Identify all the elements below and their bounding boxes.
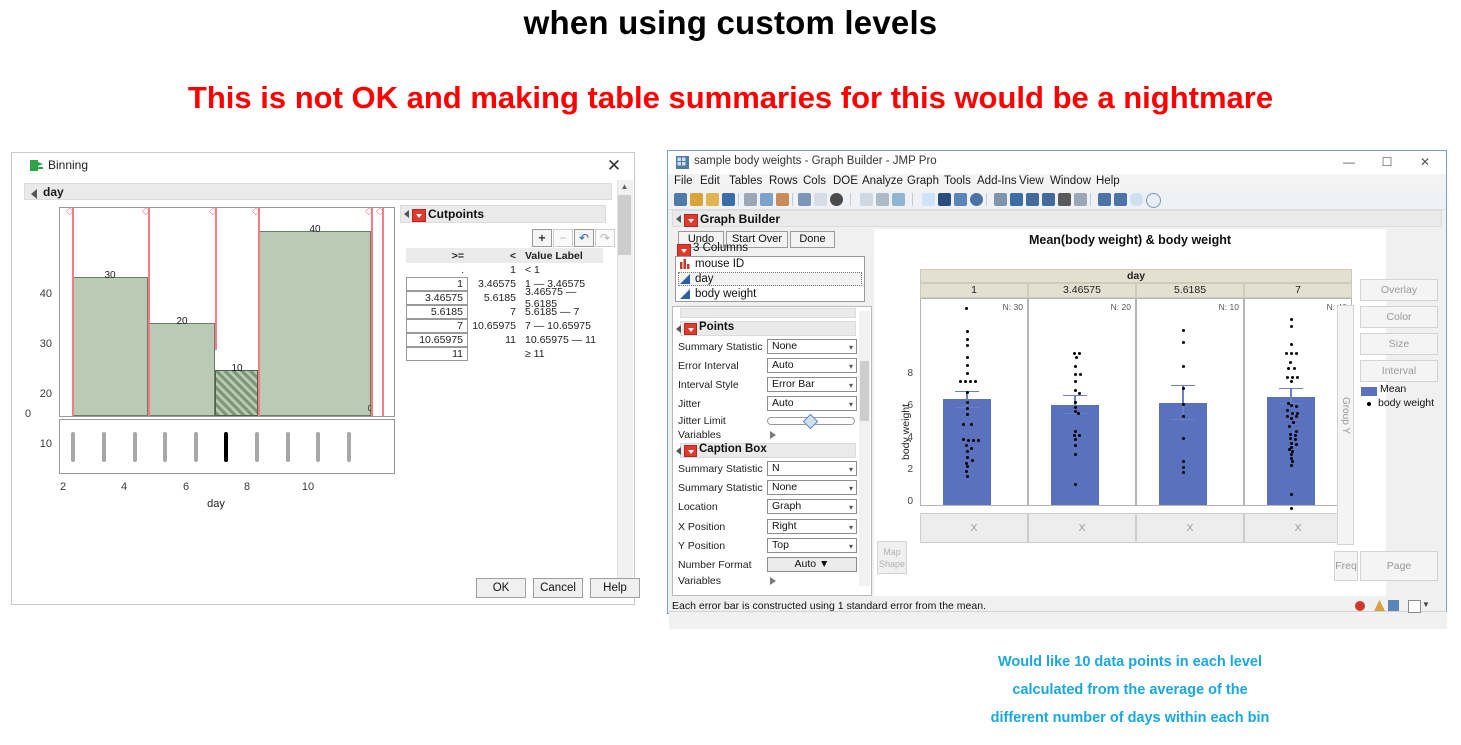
interval-style-label: Interval Style [678,379,739,391]
jitter-label: Jitter [678,398,701,410]
data-point [1074,483,1077,486]
error-interval-label: Error Interval [678,360,739,372]
data-point [966,475,969,478]
close-icon[interactable]: ✕ [604,156,624,176]
save-icon[interactable] [722,193,735,206]
facet-variable-header: day [920,269,1352,283]
x-tick-4: 4 [114,481,134,493]
caption-summary-statistic-2-label: Summary Statistic [678,482,763,494]
polygon-icon[interactable] [1130,193,1143,206]
disclosure-triangle-icon[interactable] [676,447,681,455]
chevron-down-icon: ▾ [849,521,853,534]
arrow-tool-icon[interactable] [922,193,935,206]
crosshairs-icon[interactable] [1058,193,1071,206]
columns-count-label: 3 Columns [693,242,748,254]
error-bar-cap [1063,395,1087,397]
disclosure-triangle-icon[interactable] [404,210,409,218]
freq-drop-zone[interactable]: Freq [1334,551,1358,581]
caption-summary-statistic-1-label: Summary Statistic [678,463,763,475]
caption-summary-statistic-1-select[interactable]: N▾ [767,461,857,476]
data-point [1074,389,1077,392]
data-point [1288,448,1291,451]
cutpoint-line[interactable] [148,208,150,416]
binning-window-icon [30,159,43,172]
x-tick-10: 10 [298,481,318,493]
menu-analyze[interactable]: Analyze [862,175,903,187]
select-value: Top [772,539,789,551]
data-point [1074,430,1077,433]
data-point [1079,373,1082,376]
lock-icon[interactable] [814,193,827,206]
points-summary-statistic-label: Summary Statistic [678,341,763,353]
binning-titlebar [12,153,634,179]
add-cutpoint-button[interactable]: + [532,229,552,247]
cell-lt: 5.6185 [468,292,520,304]
data-point [966,465,969,468]
n-label: N: 20 [1111,302,1131,312]
chevron-down-icon: ▾ [849,540,853,553]
column-header-ge: >= [406,250,468,262]
map-shape-label-line1: Map [883,547,901,557]
redo-button[interactable]: ↷ [595,229,615,247]
data-point [977,439,980,442]
chevron-down-icon: ▾ [849,482,853,495]
bar-value-label: 0 [363,404,377,413]
data-point [1290,507,1293,510]
column-item-mouse-id[interactable]: mouse ID [695,258,744,272]
data-point [966,456,969,459]
data-point [1074,401,1077,404]
new-data-table-icon[interactable] [674,193,687,206]
maximize-button[interactable]: ☐ [1368,151,1406,174]
cell-ge[interactable]: 5.6185 [406,305,468,319]
binning-histogram-plot[interactable]: 40 30 20 10 30 20 10 40 0 ◇ ◇ ◇ ◇ ◇ ◇ [59,207,395,417]
number-format-button[interactable]: Auto ▼ [767,557,857,572]
rug-tick-selected [224,432,228,462]
cell-ge[interactable]: 3.46575 [406,291,468,305]
caption-summary-statistic-2-select[interactable]: None▾ [767,480,857,495]
status-checkbox-icon[interactable] [1408,600,1421,613]
jmp-app-icon [676,156,689,169]
menu-cols[interactable]: Cols [803,175,826,187]
cell-label: 10.65975 — 11 [520,334,603,346]
data-point [1286,415,1289,418]
data-point [1293,367,1296,370]
menu-help[interactable]: Help [1096,175,1120,187]
legend-body-weight-label: body weight [1378,397,1434,409]
data-point [1290,464,1293,467]
data-point [1182,437,1185,440]
cutpoint-line[interactable] [215,208,217,350]
data-point [1182,403,1185,406]
chevron-down-icon: ▾ [849,379,853,392]
data-point [1290,453,1293,456]
data-point [1074,373,1077,376]
histogram-x-axis-title: day [48,498,384,510]
data-point [1290,325,1293,328]
data-point [1290,343,1293,346]
grabber-tool-icon[interactable] [994,193,1007,206]
undo-button[interactable]: ↶ [574,229,594,247]
data-point [1182,329,1185,332]
select-value: None [772,340,797,352]
data-point [1291,376,1294,379]
cell-lt: 1 [468,264,520,276]
column-item-body-weight[interactable]: body weight [695,288,756,302]
rug-tick [133,432,137,462]
data-point [1294,434,1297,437]
facet-label-5.6185: 5.6185 [1136,283,1244,298]
data-point [966,344,969,347]
cell-ge[interactable]: 10.65975 [406,333,468,347]
cutpoints-title: Cutpoints [428,207,484,221]
n-label: N: 10 [1219,302,1239,312]
x-tick-8: 8 [237,481,257,493]
rug-tick [347,432,351,462]
data-point [966,330,969,333]
rug-tick [194,432,198,462]
data-point [966,407,969,410]
annotate-icon[interactable] [1074,193,1087,206]
lines-icon[interactable] [1114,193,1127,206]
select-value: Graph [772,500,801,512]
cutpoint-handle[interactable]: ◇ [142,207,150,217]
data-point [1077,412,1080,415]
select-value: Auto [772,397,794,409]
data-point [966,413,969,416]
cutpoints-table[interactable]: >= < Value Label . 1 < 1 1 3.46575 1 — 3… [406,248,603,361]
help-button[interactable]: Help [590,578,640,598]
menu-view[interactable]: View [1019,175,1044,187]
data-point [970,447,973,450]
new-report-icon[interactable] [860,193,873,206]
location-select[interactable]: Graph▾ [767,499,857,514]
graph-y-tick-2: 2 [901,464,913,475]
table-row[interactable]: . 1 < 1 [406,263,603,277]
jitter-select[interactable]: Auto▾ [767,396,857,411]
x-position-select[interactable]: Right▾ [767,519,857,534]
data-point [1074,438,1077,441]
facet-label-7: 7 [1244,283,1352,298]
data-point [959,380,962,383]
page-drop-zone[interactable]: Page [1360,551,1438,581]
data-point [967,439,970,442]
map-shape-label-line2: Shape [879,559,905,569]
zoom-tool-icon[interactable] [1042,193,1055,206]
graph-title: Mean(body weight) & body weight [874,233,1386,247]
facet-panel-2[interactable]: N: 20 [1028,298,1136,506]
open-file-icon[interactable] [706,193,719,206]
data-point [1295,415,1298,418]
data-point [965,307,968,310]
cell-ge[interactable]: 7 [406,319,468,333]
column-item-day[interactable]: day [695,273,714,287]
nominal-column-icon [680,259,691,269]
caption-box-section-label: Caption Box [699,443,767,455]
columns-icon[interactable] [876,193,889,206]
map-shape-drop-zone[interactable]: Map Shape [877,541,907,574]
data-point [1182,471,1185,474]
data-point [971,459,974,462]
y-tick-30: 30 [26,338,52,350]
data-point [1290,417,1293,420]
expander-icon[interactable] [770,431,776,439]
select-value: Error Bar [772,378,815,390]
data-point [1290,404,1293,407]
cutpoints-table-header: >= < Value Label [406,248,603,263]
rug-tick [163,432,167,462]
data-point [1075,356,1078,359]
remove-cutpoint-button[interactable]: − [553,229,573,247]
slide-heading-red: This is not OK and making table summarie… [0,80,1461,116]
data-point [1182,387,1185,390]
status-window-icon[interactable] [1388,600,1399,611]
scroll-up-icon[interactable]: ▲ [617,180,632,194]
chevron-down-icon: ▾ [849,341,853,354]
points-summary-statistic-select[interactable]: None▾ [767,339,857,354]
search-icon[interactable] [830,193,843,206]
data-point [1074,444,1077,447]
data-point [969,380,972,383]
facet-panel-3[interactable]: N: 10 [1136,298,1244,506]
cell-ge[interactable]: 1 [406,277,468,291]
y-tick-10: 10 [26,438,52,450]
histogram-bar-selected[interactable] [215,370,258,416]
slide-heading-black: when using custom levels [0,4,1461,42]
cutpoint-line[interactable] [382,208,384,416]
size-drop-zone[interactable]: Size [1360,333,1438,355]
chevron-down-icon: ▾ [849,463,853,476]
cut-icon[interactable] [744,193,757,206]
color-drop-zone[interactable]: Color [1360,306,1438,328]
text-box-icon[interactable] [1098,193,1111,206]
data-point [1290,493,1293,496]
x-drop-zone[interactable]: X [1136,513,1244,543]
expander-icon[interactable] [770,577,776,585]
data-point [1295,443,1298,446]
error-bar-cap [1171,385,1195,387]
cutpoint-handle[interactable]: ◇ [252,207,260,217]
data-point [1074,380,1077,383]
data-point [1289,437,1292,440]
menu-rows[interactable]: Rows [769,175,798,187]
data-point [1294,438,1297,441]
histogram-bar[interactable] [148,323,215,416]
columns-list[interactable]: mouse ID day body weight [675,256,865,302]
cell-ge: . [406,264,468,276]
table-row[interactable]: 7 10.65975 7 — 10.65975 [406,319,603,333]
disclosure-triangle-icon[interactable] [676,325,681,333]
x-drop-zone[interactable]: X [920,513,1028,543]
journal-icon[interactable] [798,193,811,206]
caption-box-menu-icon[interactable] [684,445,697,457]
x-drop-zone[interactable]: X [1244,513,1352,543]
x-drop-zone[interactable]: X [1028,513,1136,543]
paste-icon[interactable] [776,193,789,206]
menu-edit[interactable]: Edit [700,175,720,187]
data-point [1295,430,1298,433]
bar-value-label: 30 [80,270,140,281]
data-point [1073,434,1076,437]
jitter-limit-label: Jitter Limit [678,415,726,427]
cutpoint-line[interactable] [371,208,373,416]
cutpoint-line[interactable] [258,208,260,416]
menu-graph[interactable]: Graph [907,175,939,187]
legend-point-marker [1367,402,1371,406]
select-value: N [772,462,780,474]
data-point [1292,421,1295,424]
interval-style-select[interactable]: Error Bar▾ [767,377,857,392]
menu-tables[interactable]: Tables [729,175,762,187]
cell-ge[interactable]: 11 [406,347,468,361]
table-row[interactable]: 3.46575 5.6185 3.46575 — 5.6185 [406,291,603,305]
table-row[interactable]: 11 ≥ 11 [406,347,603,361]
column-header-value-label: Value Label [520,250,603,262]
binning-dialog: Binning ✕ day 40 30 20 10 30 20 10 40 0 … [11,152,635,605]
histogram-bar[interactable] [72,277,148,416]
caption-variables-label: Variables [678,575,721,587]
question-tool-icon[interactable] [938,193,951,206]
data-point [1290,442,1293,445]
scrollbar-thumb[interactable] [860,361,869,421]
cell-label: 5.6185 — 7 [520,306,603,318]
oval-icon[interactable] [1146,193,1161,208]
rug-tick [255,432,259,462]
overlay-drop-zone[interactable]: Overlay [1360,279,1438,301]
menu-tools[interactable]: Tools [944,175,971,187]
data-point [965,444,968,447]
scrollbar-thumb[interactable] [618,195,631,255]
annotation-line-2: calculated from the average of the [880,676,1380,704]
graph-builder-title: Graph Builder [700,212,780,226]
table-row[interactable]: 5.6185 7 5.6185 — 7 [406,305,603,319]
disclosure-triangle-icon[interactable] [31,189,37,199]
binning-title: Binning [48,158,88,172]
select-value: Auto [772,359,794,371]
chevron-down-icon: ▾ [849,398,853,411]
chevron-down-icon: ▾ [849,360,853,373]
cancel-button[interactable]: Cancel [533,578,583,598]
lasso-tool-icon[interactable] [1010,193,1023,206]
menu-window[interactable]: Window [1050,175,1091,187]
data-point [1289,433,1292,436]
select-value: Right [772,520,797,532]
cutpoint-handle[interactable]: ◇ [376,207,384,217]
facet-label-1: 1 [920,283,1028,298]
graph-y-tick-0: 0 [901,496,913,507]
rug-tick [71,432,75,462]
chevron-down-icon: ▾ [849,501,853,514]
status-dropdown-icon[interactable]: ▼ [1422,600,1430,609]
bar-value-label: 40 [285,224,345,235]
data-point [1078,434,1081,437]
menu-doe[interactable]: DOE [833,175,858,187]
cell-lt: 10.65975 [468,320,520,332]
menu-addins[interactable]: Add-Ins [977,175,1017,187]
legend-mean-label: Mean [1380,383,1406,395]
cutpoint-handle[interactable]: ◇ [209,207,217,217]
data-point [1182,365,1185,368]
cutpoint-handle[interactable]: ◇ [365,207,373,217]
number-format-label: Number Format [678,559,752,571]
facet-label-3.46575: 3.46575 [1028,283,1136,298]
binning-variable-header[interactable] [24,183,612,200]
data-point [966,450,969,453]
section-bar-collapsed[interactable] [680,308,856,318]
jmp-pro-window: sample body weights - Graph Builder - JM… [667,150,1447,614]
error-interval-select[interactable]: Auto▾ [767,358,857,373]
cyan-annotation: Would like 10 data points in each level … [880,648,1380,732]
data-point [966,372,969,375]
y-position-select[interactable]: Top▾ [767,538,857,553]
jmp-window-title: sample body weights - Graph Builder - JM… [694,155,937,167]
data-point [1290,380,1293,383]
add-rows-icon[interactable] [892,193,905,206]
menu-file[interactable]: File [674,175,693,187]
disclosure-triangle-icon[interactable] [676,215,681,223]
graph-builder-header[interactable] [672,210,1442,227]
cutpoint-line[interactable] [72,208,74,416]
cutpoints-menu-icon[interactable] [412,209,426,222]
histogram-bar[interactable] [258,231,371,416]
error-bar-cap [1171,419,1195,421]
points-section-label: Points [699,321,734,333]
cell-label: < 1 [520,264,603,276]
cutpoint-handle[interactable]: ◇ [66,207,74,217]
legend-mean-swatch [1361,387,1377,396]
data-point [1288,425,1291,428]
graph-builder-menu-icon[interactable] [684,214,698,227]
data-point [1287,402,1290,405]
close-button[interactable]: ✕ [1406,151,1444,174]
minimize-button[interactable]: — [1330,151,1368,174]
data-point [966,338,969,341]
done-button[interactable]: Done [790,231,835,248]
control-panel-scrollbar[interactable] [859,311,870,586]
data-point [966,364,969,367]
data-point [1182,460,1185,463]
cell-lt: 11 [468,334,520,346]
table-row[interactable]: 10.65975 11 10.65975 — 11 [406,333,603,347]
data-point [1182,341,1185,344]
data-point [974,380,977,383]
copy-icon[interactable] [760,193,773,206]
data-point [1286,409,1289,412]
continuous-column-icon [680,274,691,284]
facet-panel-1[interactable]: N: 30 [920,298,1028,506]
n-label: N: 30 [1003,302,1023,312]
data-point [962,438,965,441]
cell-lt: 7 [468,306,520,318]
data-point [966,356,969,359]
ok-button[interactable]: OK [476,578,526,598]
facet-panel-4[interactable]: N: 40 [1244,298,1352,506]
rug-tick [102,432,106,462]
data-point [1296,376,1299,379]
status-error-icon[interactable] [1355,601,1365,611]
data-point [1078,392,1081,395]
open-recent-icon[interactable] [690,193,703,206]
points-menu-icon[interactable] [684,323,697,335]
brush-tool-icon[interactable] [970,193,983,206]
interval-drop-zone[interactable]: Interval [1360,360,1438,382]
binning-rug-plot[interactable] [59,419,395,474]
data-point [1074,453,1077,456]
crosshair-tool-icon[interactable] [954,193,967,206]
magnifier-tool-icon[interactable] [1026,193,1039,206]
data-point [962,423,965,426]
column-header-lt: < [468,250,520,262]
